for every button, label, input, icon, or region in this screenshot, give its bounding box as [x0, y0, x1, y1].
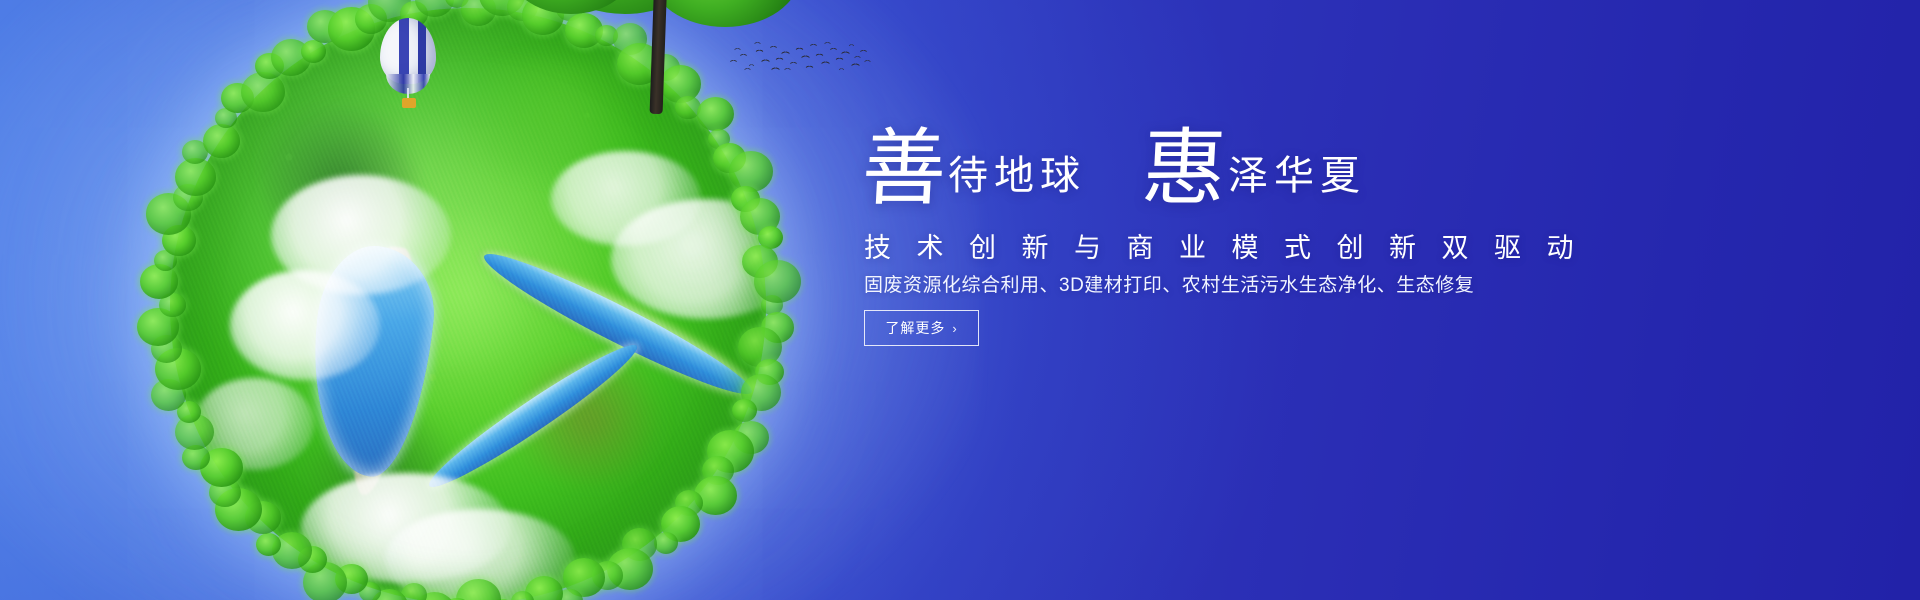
bird-icon: [730, 60, 737, 64]
bird-icon: [810, 44, 817, 48]
bird-icon: [836, 58, 843, 62]
bird-icon: [771, 68, 779, 73]
bird-icon: [776, 58, 783, 62]
tree-canopy: [729, 151, 773, 191]
bird-icon: [841, 52, 849, 57]
page-title: 善 待地球 惠 泽华夏: [862, 132, 1366, 208]
headline-char-shan: 善: [860, 132, 948, 208]
bird-icon: [801, 56, 809, 61]
tree-canopy: [732, 399, 757, 422]
bird-icon: [745, 68, 751, 71]
headline-char-hui: 惠: [1140, 132, 1228, 208]
tree-canopy: [754, 260, 801, 303]
bird-icon: [825, 42, 831, 45]
tree-canopy: [203, 124, 240, 158]
bird-icon: [761, 60, 769, 65]
balloon-basket: [402, 98, 416, 108]
headline-text-daidiqiu: 待地球: [948, 156, 1086, 208]
bird-icon: [749, 65, 754, 68]
banner-subtitle: 技 术 创 新 与 商 业 模 式 创 新 双 驱 动: [864, 226, 1583, 265]
bird-icon: [785, 68, 791, 71]
bird-icon: [830, 48, 837, 52]
hot-air-balloon-icon: [380, 18, 440, 118]
bird-icon: [849, 45, 854, 48]
learn-more-label: 了解更多: [885, 318, 945, 338]
hero-banner: 善 待地球 惠 泽华夏 技 术 创 新 与 商 业 模 式 创 新 双 驱 动 …: [0, 0, 1920, 600]
bird-flock-icon: [728, 38, 868, 86]
tree-canopy: [650, 0, 800, 27]
bird-icon: [851, 64, 859, 69]
banner-description: 固废资源化综合利用、3D建材打印、农村生活污水生态净化、生态修复: [864, 270, 1474, 297]
balloon-envelope: [380, 18, 436, 84]
bird-icon: [839, 69, 844, 72]
bird-icon: [790, 62, 797, 66]
tree-canopy: [456, 579, 501, 600]
tree-trunk: [650, 0, 668, 114]
bird-icon: [781, 52, 789, 57]
bird-icon: [855, 56, 861, 59]
bird-icon: [821, 62, 829, 67]
bird-icon: [755, 42, 761, 45]
tiny-planet-earth: [148, 0, 788, 600]
headline-text-zehuaxia: 泽华夏: [1228, 156, 1366, 208]
bird-icon: [770, 46, 777, 50]
tree-canopy: [654, 532, 678, 554]
learn-more-button[interactable]: 了解更多 ›: [864, 310, 979, 346]
tree-canopy: [301, 40, 326, 63]
bird-icon: [796, 48, 803, 52]
banner-content: 善 待地球 惠 泽华夏 技 术 创 新 与 商 业 模 式 创 新 双 驱 动 …: [862, 0, 1862, 600]
bird-icon: [735, 48, 741, 51]
bird-icon: [806, 66, 813, 70]
bird-icon: [756, 50, 763, 54]
chevron-right-icon: ›: [952, 321, 957, 336]
tree-canopy: [256, 533, 281, 556]
bird-icon: [740, 54, 747, 58]
bird-icon: [816, 54, 823, 58]
